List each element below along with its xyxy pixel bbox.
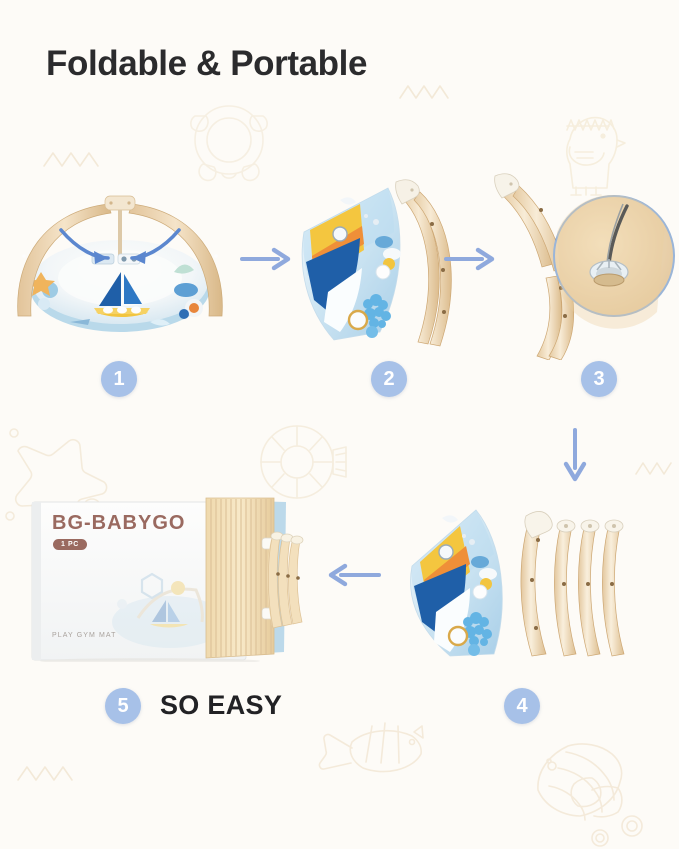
- shell-icon: [622, 816, 642, 836]
- arrow-step2-to-step3: [444, 246, 496, 272]
- page-title: Foldable & Portable: [46, 44, 367, 84]
- arrow-step4-to-step5: [325, 562, 381, 588]
- zigzag-icon: [636, 463, 671, 474]
- figure-assembled-play-gym: [8, 168, 240, 352]
- package-product-label: PLAY GYM MAT: [52, 632, 117, 639]
- step-badge-2: 2: [371, 361, 407, 397]
- figure-split-arch-detail: [483, 168, 675, 360]
- package-quantity-badge: 1 PC: [53, 539, 87, 550]
- step-badge-1: 1: [101, 361, 137, 397]
- arrow-step1-to-step2: [240, 246, 292, 272]
- life-ring-icon: [261, 426, 346, 498]
- background-decorations: [0, 0, 679, 849]
- figure-packed-box: BG-BABYGO 1 PC PLAY GYM MAT: [30, 492, 304, 662]
- fish-icon: [319, 723, 423, 772]
- zigzag-icon: [18, 767, 72, 780]
- package-brand: BG-BABYGO: [52, 512, 185, 535]
- figure-mat-and-arch: [288, 172, 468, 354]
- step-badge-3: 3: [581, 361, 617, 397]
- so-easy-caption: SO EASY: [160, 690, 282, 721]
- step-badge-5: 5: [105, 688, 141, 724]
- infographic-page: Foldable & Portable: [0, 0, 679, 849]
- step-badge-4: 4: [504, 688, 540, 724]
- zigzag-icon: [44, 153, 98, 166]
- zigzag-icon: [400, 86, 448, 98]
- figure-folded-mat-and-sticks: [398, 488, 640, 668]
- arrow-step3-to-step4: [562, 428, 588, 484]
- angelfish-icon: [538, 744, 642, 846]
